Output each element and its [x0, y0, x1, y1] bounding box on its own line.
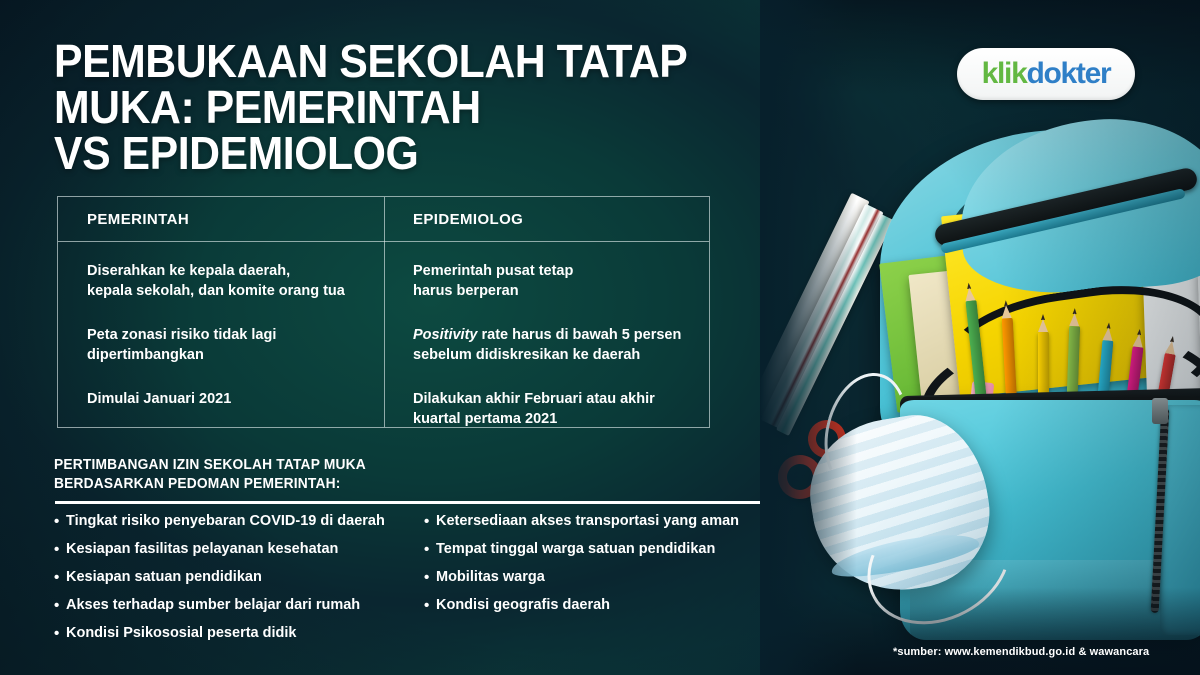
table-cell: Dilakukan akhir Februari atau akhir kuar…: [413, 389, 695, 429]
section-divider-rule: [55, 501, 760, 504]
list-item: •Kondisi geografis daerah: [424, 597, 774, 614]
list-item-label: Akses terhadap sumber belajar dari rumah: [66, 597, 360, 614]
klikdokter-logo[interactable]: klikdokter: [957, 48, 1135, 100]
list-item: •Kesiapan fasilitas pelayanan kesehatan: [54, 541, 434, 558]
table-column-pemerintah: Diserahkan ke kepala daerah, kepala seko…: [58, 241, 384, 427]
bullet-dot-icon: •: [424, 513, 434, 530]
list-item: •Akses terhadap sumber belajar dari ruma…: [54, 597, 434, 614]
table-cell: Pemerintah pusat tetap harus berperan: [413, 261, 695, 301]
bullet-dot-icon: •: [54, 625, 64, 642]
table-header-epidemiolog: EPIDEMIOLOG: [413, 197, 523, 241]
list-item-label: Kondisi Psikososial peserta didik: [66, 625, 296, 642]
zipper-pull: [1152, 398, 1168, 424]
table-cell: Dimulai Januari 2021: [87, 389, 368, 409]
list-item-label: Kesiapan satuan pendidikan: [66, 569, 262, 586]
list-item-label: Tempat tinggal warga satuan pendidikan: [436, 541, 715, 558]
bullet-dot-icon: •: [54, 569, 64, 586]
list-item: •Tingkat risiko penyebaran COVID-19 di d…: [54, 513, 434, 530]
logo-text-dokter: dokter: [1026, 57, 1110, 91]
page-title: PEMBUKAAN SEKOLAH TATAP MUKA: PEMERINTAH…: [54, 38, 789, 176]
list-item: •Ketersediaan akses transportasi yang am…: [424, 513, 774, 530]
infographic-canvas: PEMBUKAAN SEKOLAH TATAP MUKA: PEMERINTAH…: [0, 0, 1200, 675]
list-item-label: Tingkat risiko penyebaran COVID-19 di da…: [66, 513, 385, 530]
list-item: •Mobilitas warga: [424, 569, 774, 586]
source-attribution: *sumber: www.kemendikbud.go.id & wawanca…: [893, 646, 1149, 658]
list-item-label: Mobilitas warga: [436, 569, 545, 586]
bullet-dot-icon: •: [54, 541, 64, 558]
table-header-pemerintah: PEMERINTAH: [87, 197, 189, 241]
considerations-heading: PERTIMBANGAN IZIN SEKOLAH TATAP MUKA BER…: [54, 456, 719, 494]
considerations-list-left: •Tingkat risiko penyebaran COVID-19 di d…: [54, 513, 434, 653]
logo-text-klik: klik: [982, 57, 1027, 91]
list-item: •Kondisi Psikososial peserta didik: [54, 625, 434, 642]
table-cell: Peta zonasi risiko tidak lagi dipertimba…: [87, 325, 368, 365]
bullet-dot-icon: •: [424, 569, 434, 586]
table-cell: Diserahkan ke kepala daerah, kepala seko…: [87, 261, 368, 301]
bullet-dot-icon: •: [54, 513, 64, 530]
list-item: •Kesiapan satuan pendidikan: [54, 569, 434, 586]
list-item-label: Kondisi geografis daerah: [436, 597, 610, 614]
list-item-label: Kesiapan fasilitas pelayanan kesehatan: [66, 541, 338, 558]
backpack-photo: [760, 0, 1200, 675]
list-item: •Tempat tinggal warga satuan pendidikan: [424, 541, 774, 558]
comparison-table: PEMERINTAH EPIDEMIOLOG Diserahkan ke kep…: [57, 196, 710, 428]
list-item-label: Ketersediaan akses transportasi yang ama…: [436, 513, 739, 530]
bullet-dot-icon: •: [424, 597, 434, 614]
table-column-epidemiolog: Pemerintah pusat tetap harus berperan Po…: [384, 241, 711, 427]
table-cell-positivity: Positivity rate harus di bawah 5 persen …: [413, 325, 695, 365]
bullet-dot-icon: •: [424, 541, 434, 558]
bullet-dot-icon: •: [54, 597, 64, 614]
considerations-list-right: •Ketersediaan akses transportasi yang am…: [424, 513, 774, 625]
